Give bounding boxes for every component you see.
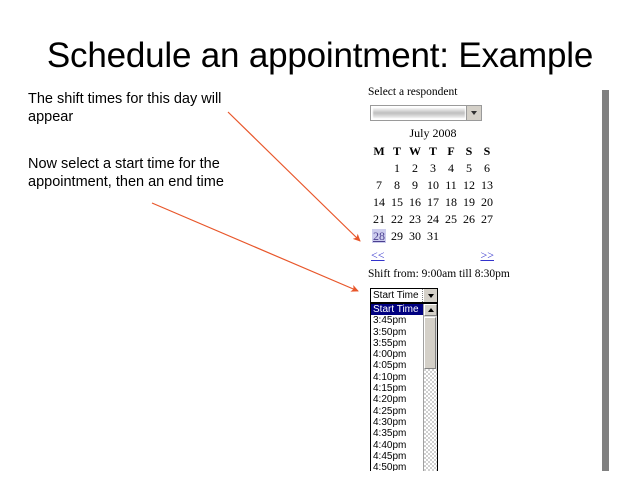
listbox-scrollbar[interactable]: [423, 304, 437, 471]
calendar-day[interactable]: 7: [370, 177, 388, 194]
list-item[interactable]: 3:55pm: [371, 338, 423, 349]
calendar-day[interactable]: 3: [424, 160, 442, 177]
scrollbar-thumb[interactable]: [424, 317, 436, 369]
calendar-day: [442, 228, 460, 245]
calendar-day[interactable]: 30: [406, 228, 424, 245]
chevron-down-icon[interactable]: [466, 106, 481, 120]
calendar-weekday: T: [388, 143, 406, 160]
calendar-day[interactable]: 18: [442, 194, 460, 211]
annotation-select-start-time: Now select a start time for the appointm…: [28, 155, 253, 191]
calendar-day[interactable]: 25: [442, 211, 460, 228]
calendar-day[interactable]: 21: [370, 211, 388, 228]
calendar-week-row: 1 2 3 4 5 6: [370, 160, 496, 177]
calendar-weekday: F: [442, 143, 460, 160]
calendar-day[interactable]: 14: [370, 194, 388, 211]
calendar-weekday-row: M T W T F S S: [370, 143, 496, 160]
calendar-day: [478, 228, 496, 245]
calendar-weekday: W: [406, 143, 424, 160]
calendar-day-selected[interactable]: 28: [370, 228, 388, 245]
calendar-week-row: 7 8 9 10 11 12 13: [370, 177, 496, 194]
list-item[interactable]: 4:20pm: [371, 394, 423, 405]
list-item[interactable]: 4:10pm: [371, 372, 423, 383]
page-title: Schedule an appointment: Example: [0, 36, 640, 76]
calendar-prev-month-link[interactable]: <<: [371, 248, 385, 263]
calendar-day[interactable]: 9: [406, 177, 424, 194]
calendar-day[interactable]: 8: [388, 177, 406, 194]
calendar-day[interactable]: 5: [460, 160, 478, 177]
calendar-day[interactable]: 22: [388, 211, 406, 228]
calendar-day[interactable]: 19: [460, 194, 478, 211]
annotation-shift-times: The shift times for this day will appear: [28, 90, 253, 126]
calendar-month-label: July 2008: [370, 126, 496, 143]
start-time-option-column: Start Time 3:45pm 3:50pm 3:55pm 4:00pm 4…: [371, 304, 423, 471]
calendar-day[interactable]: 17: [424, 194, 442, 211]
calendar-day[interactable]: 27: [478, 211, 496, 228]
list-item[interactable]: Start Time: [371, 304, 423, 315]
list-item[interactable]: 4:05pm: [371, 360, 423, 371]
list-item[interactable]: 4:00pm: [371, 349, 423, 360]
calendar-day[interactable]: 13: [478, 177, 496, 194]
shift-hours-text: Shift from: 9:00am till 8:30pm: [368, 268, 510, 280]
calendar-grid: M T W T F S S 1 2 3 4: [370, 143, 496, 245]
calendar-day[interactable]: 24: [424, 211, 442, 228]
calendar-day[interactable]: 6: [478, 160, 496, 177]
respondent-label: Select a respondent: [368, 86, 457, 98]
slide-image-shadow-right: [602, 90, 609, 471]
list-item[interactable]: 4:40pm: [371, 440, 423, 451]
calendar-day[interactable]: 4: [442, 160, 460, 177]
list-item[interactable]: 4:25pm: [371, 406, 423, 417]
triangle-up-icon[interactable]: [424, 304, 437, 316]
calendar-day[interactable]: 16: [406, 194, 424, 211]
list-item[interactable]: 4:15pm: [371, 383, 423, 394]
calendar-week-row: 21 22 23 24 25 26 27: [370, 211, 496, 228]
calendar-day[interactable]: 2: [406, 160, 424, 177]
calendar-weekday: S: [460, 143, 478, 160]
calendar-day[interactable]: 12: [460, 177, 478, 194]
list-item[interactable]: 3:45pm: [371, 315, 423, 326]
calendar-day[interactable]: 11: [442, 177, 460, 194]
list-item[interactable]: 4:30pm: [371, 417, 423, 428]
calendar-day[interactable]: 20: [478, 194, 496, 211]
calendar-day: [370, 160, 388, 177]
start-time-option-list[interactable]: Start Time 3:45pm 3:50pm 3:55pm 4:00pm 4…: [370, 303, 438, 471]
calendar-day[interactable]: 1: [388, 160, 406, 177]
calendar-weekday: M: [370, 143, 388, 160]
calendar-day[interactable]: 15: [388, 194, 406, 211]
calendar-day[interactable]: 29: [388, 228, 406, 245]
respondent-selected-value: [373, 108, 465, 118]
calendar-day[interactable]: 23: [406, 211, 424, 228]
presentation-slide: Schedule an appointment: Example The shi…: [0, 0, 640, 480]
calendar-day[interactable]: 31: [424, 228, 442, 245]
calendar-weekday: S: [478, 143, 496, 160]
scrollbar-track[interactable]: [424, 369, 437, 471]
calendar-weekday: T: [424, 143, 442, 160]
arrow-to-start-time-combo: [152, 203, 358, 291]
calendar-day: [460, 228, 478, 245]
calendar-week-row: 14 15 16 17 18 19 20: [370, 194, 496, 211]
respondent-select[interactable]: [370, 105, 482, 121]
list-item[interactable]: 3:50pm: [371, 327, 423, 338]
calendar-next-month-link[interactable]: >>: [480, 248, 494, 263]
start-time-combo-value: Start Time: [371, 289, 423, 302]
start-time-combo[interactable]: Start Time: [370, 288, 438, 303]
list-item[interactable]: 4:45pm: [371, 451, 423, 462]
calendar-navigation: << >>: [370, 248, 496, 264]
embedded-screenshot: Select a respondent July 2008 M T W T F …: [364, 84, 602, 471]
list-item[interactable]: 4:50pm: [371, 462, 423, 471]
calendar-day[interactable]: 10: [424, 177, 442, 194]
calendar-day[interactable]: 26: [460, 211, 478, 228]
list-item[interactable]: 4:35pm: [371, 428, 423, 439]
chevron-down-icon[interactable]: [423, 289, 437, 302]
calendar-widget[interactable]: July 2008 M T W T F S S: [370, 126, 496, 264]
calendar-week-row: 28 29 30 31: [370, 228, 496, 245]
